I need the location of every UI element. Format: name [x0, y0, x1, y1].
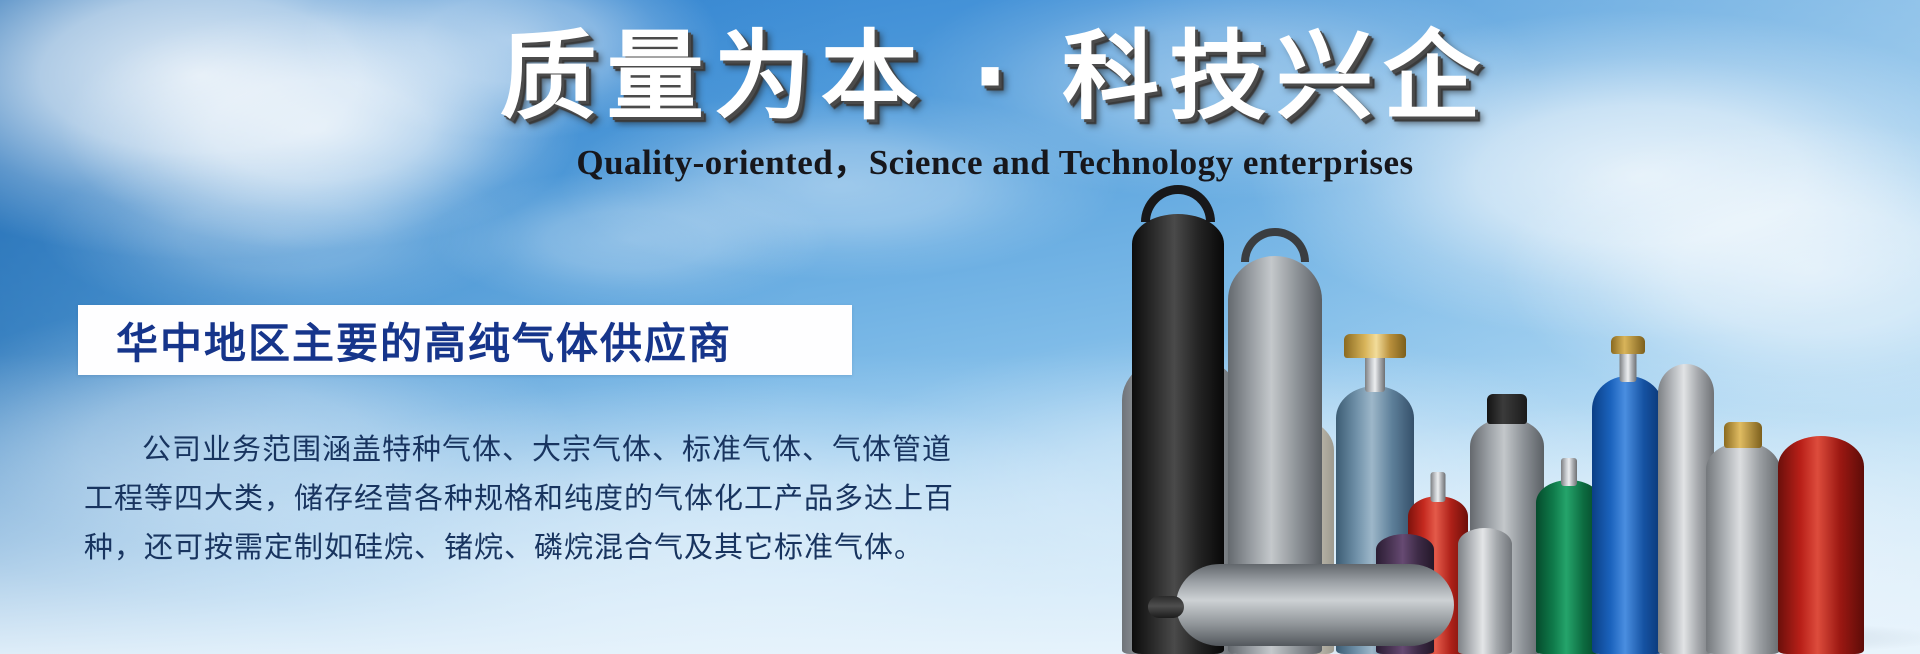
tagline-bar: 华中地区主要的高纯气体供应商	[78, 305, 852, 375]
cylinder-silver-front	[1458, 528, 1512, 654]
body-line: 种，还可按需定制如硅烷、锗烷、磷烷混合气及其它标准气体。	[84, 523, 874, 572]
cylinder-green-valve	[1561, 458, 1577, 486]
cylinder-grey-lying	[1176, 564, 1454, 646]
tagline-text: 华中地区主要的高纯气体供应商	[78, 310, 732, 371]
cylinder-red-tall	[1778, 436, 1864, 654]
cylinder-blue-tall	[1592, 376, 1664, 654]
gas-cylinder-group-image	[1140, 150, 1920, 654]
cylinder-grey-handle	[1241, 228, 1309, 262]
cylinder-aluminium	[1706, 442, 1780, 654]
cylinder-blue-tall-cap	[1611, 336, 1645, 354]
cylinder-grey-medium-valve	[1487, 394, 1527, 424]
body-line: 公司业务范围涵盖特种气体、大宗气体、标准气体、气体管道	[84, 425, 874, 474]
cylinder-aluminium-valve	[1724, 422, 1762, 448]
cylinder-blue-regulator	[1344, 334, 1406, 358]
body-line: 工程等四大类，储存经营各种规格和纯度的气体化工产品多达上百	[84, 474, 874, 523]
banner-headline: 质量为本 · 科技兴企	[0, 26, 1920, 129]
promo-banner: 质量为本 · 科技兴企 Quality-oriented，Science and…	[0, 0, 1920, 654]
cylinder-black-handle	[1141, 185, 1215, 222]
cylinder-red-valve	[1431, 472, 1446, 502]
cylinder-lying-valve	[1148, 596, 1184, 618]
banner-body-copy: 公司业务范围涵盖特种气体、大宗气体、标准气体、气体管道 工程等四大类，储存经营各…	[84, 425, 874, 572]
